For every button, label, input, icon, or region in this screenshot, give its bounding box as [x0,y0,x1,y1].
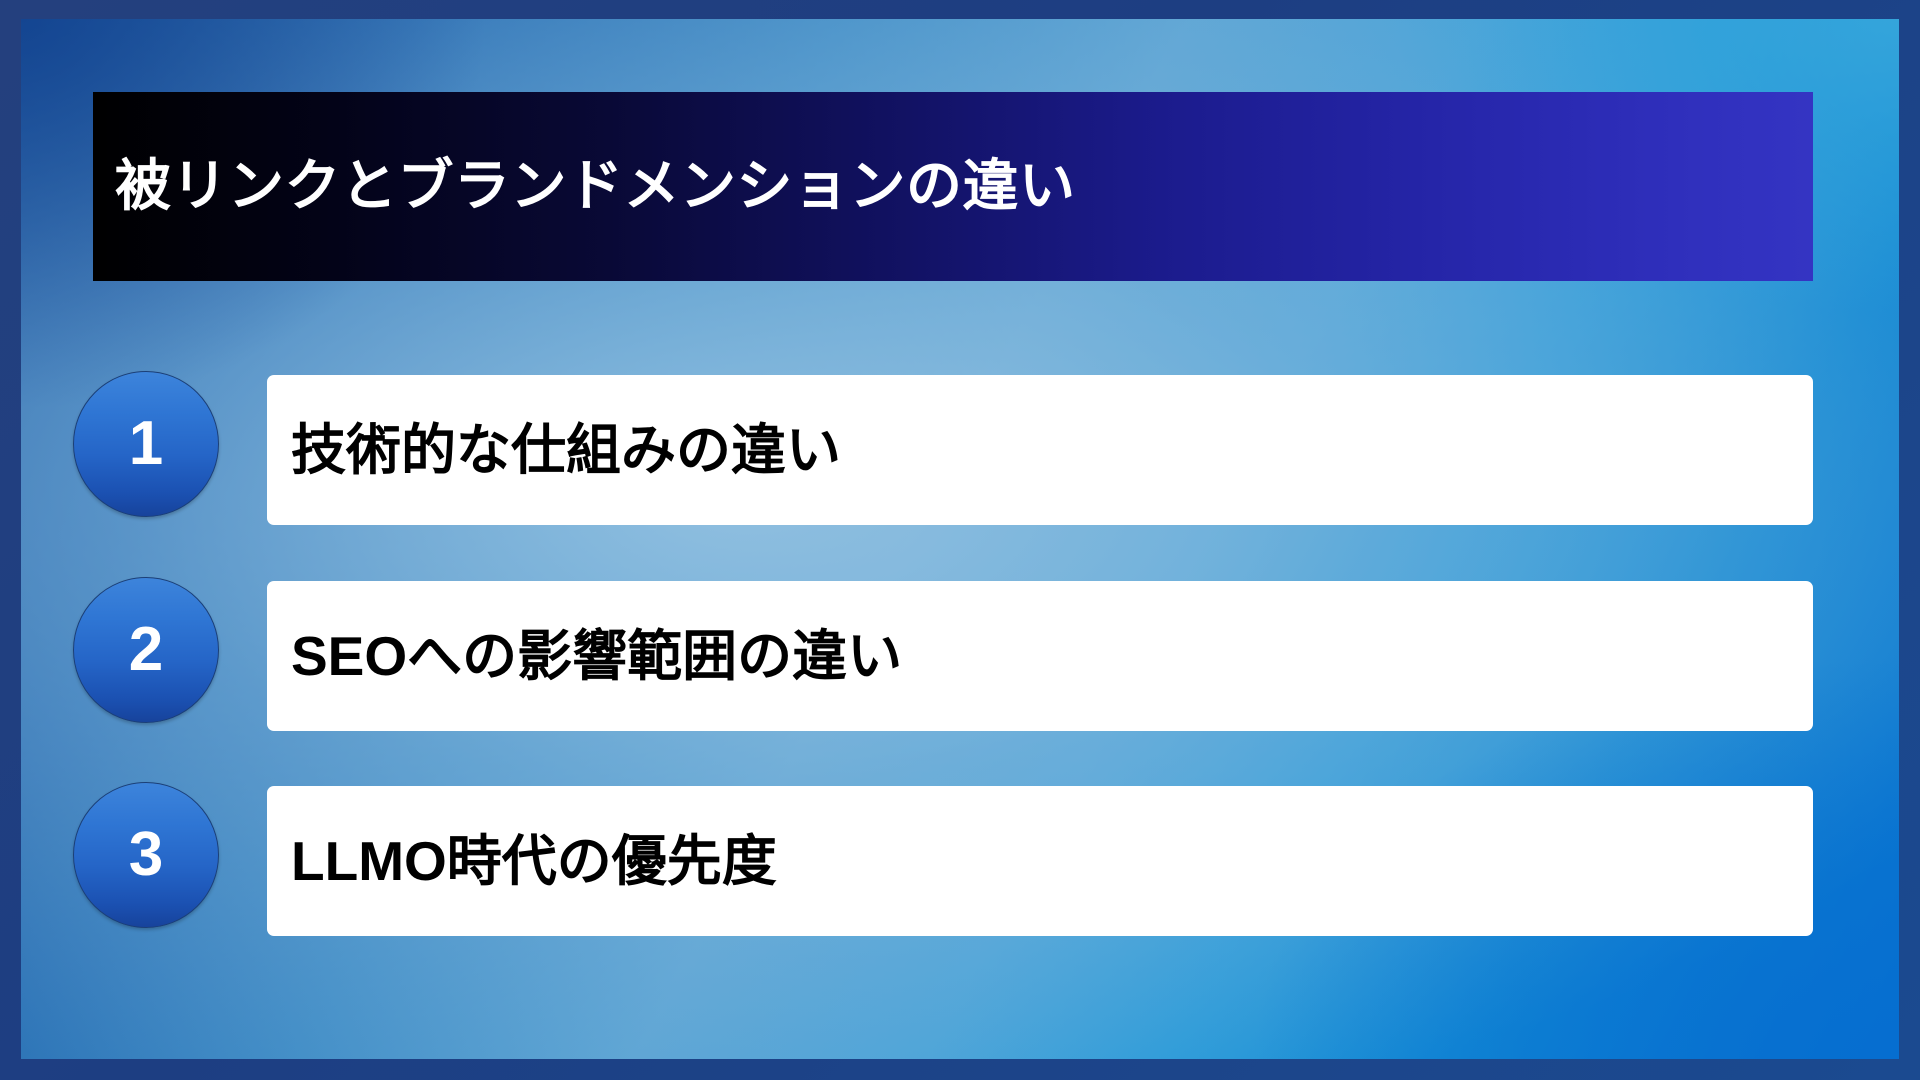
item-number-label: 3 [129,824,163,886]
item-number-badge: 3 [73,782,219,928]
item-card-label: LLMO時代の優先度 [291,831,777,892]
item-card-label: 技術的な仕組みの違い [291,420,841,481]
item-card-label: SEOへの影響範囲の違い [291,626,902,687]
item-number-badge: 2 [73,577,219,723]
item-number-label: 2 [129,619,163,681]
item-card[interactable]: SEOへの影響範囲の違い [267,581,1813,731]
list-item[interactable]: 2 SEOへの影響範囲の違い [21,581,1899,731]
item-card[interactable]: LLMO時代の優先度 [267,786,1813,936]
slide-panel: 被リンクとブランドメンションの違い 1 技術的な仕組みの違い 2 SEOへの影響… [21,19,1899,1059]
item-number-badge: 1 [73,371,219,517]
slide-frame: 被リンクとブランドメンションの違い 1 技術的な仕組みの違い 2 SEOへの影響… [0,0,1920,1080]
slide-title-banner: 被リンクとブランドメンションの違い [93,92,1813,281]
item-card[interactable]: 技術的な仕組みの違い [267,375,1813,525]
item-number-label: 1 [129,413,163,475]
list-item[interactable]: 3 LLMO時代の優先度 [21,786,1899,936]
list-item[interactable]: 1 技術的な仕組みの違い [21,375,1899,525]
slide-title: 被リンクとブランドメンションの違い [115,154,1076,218]
